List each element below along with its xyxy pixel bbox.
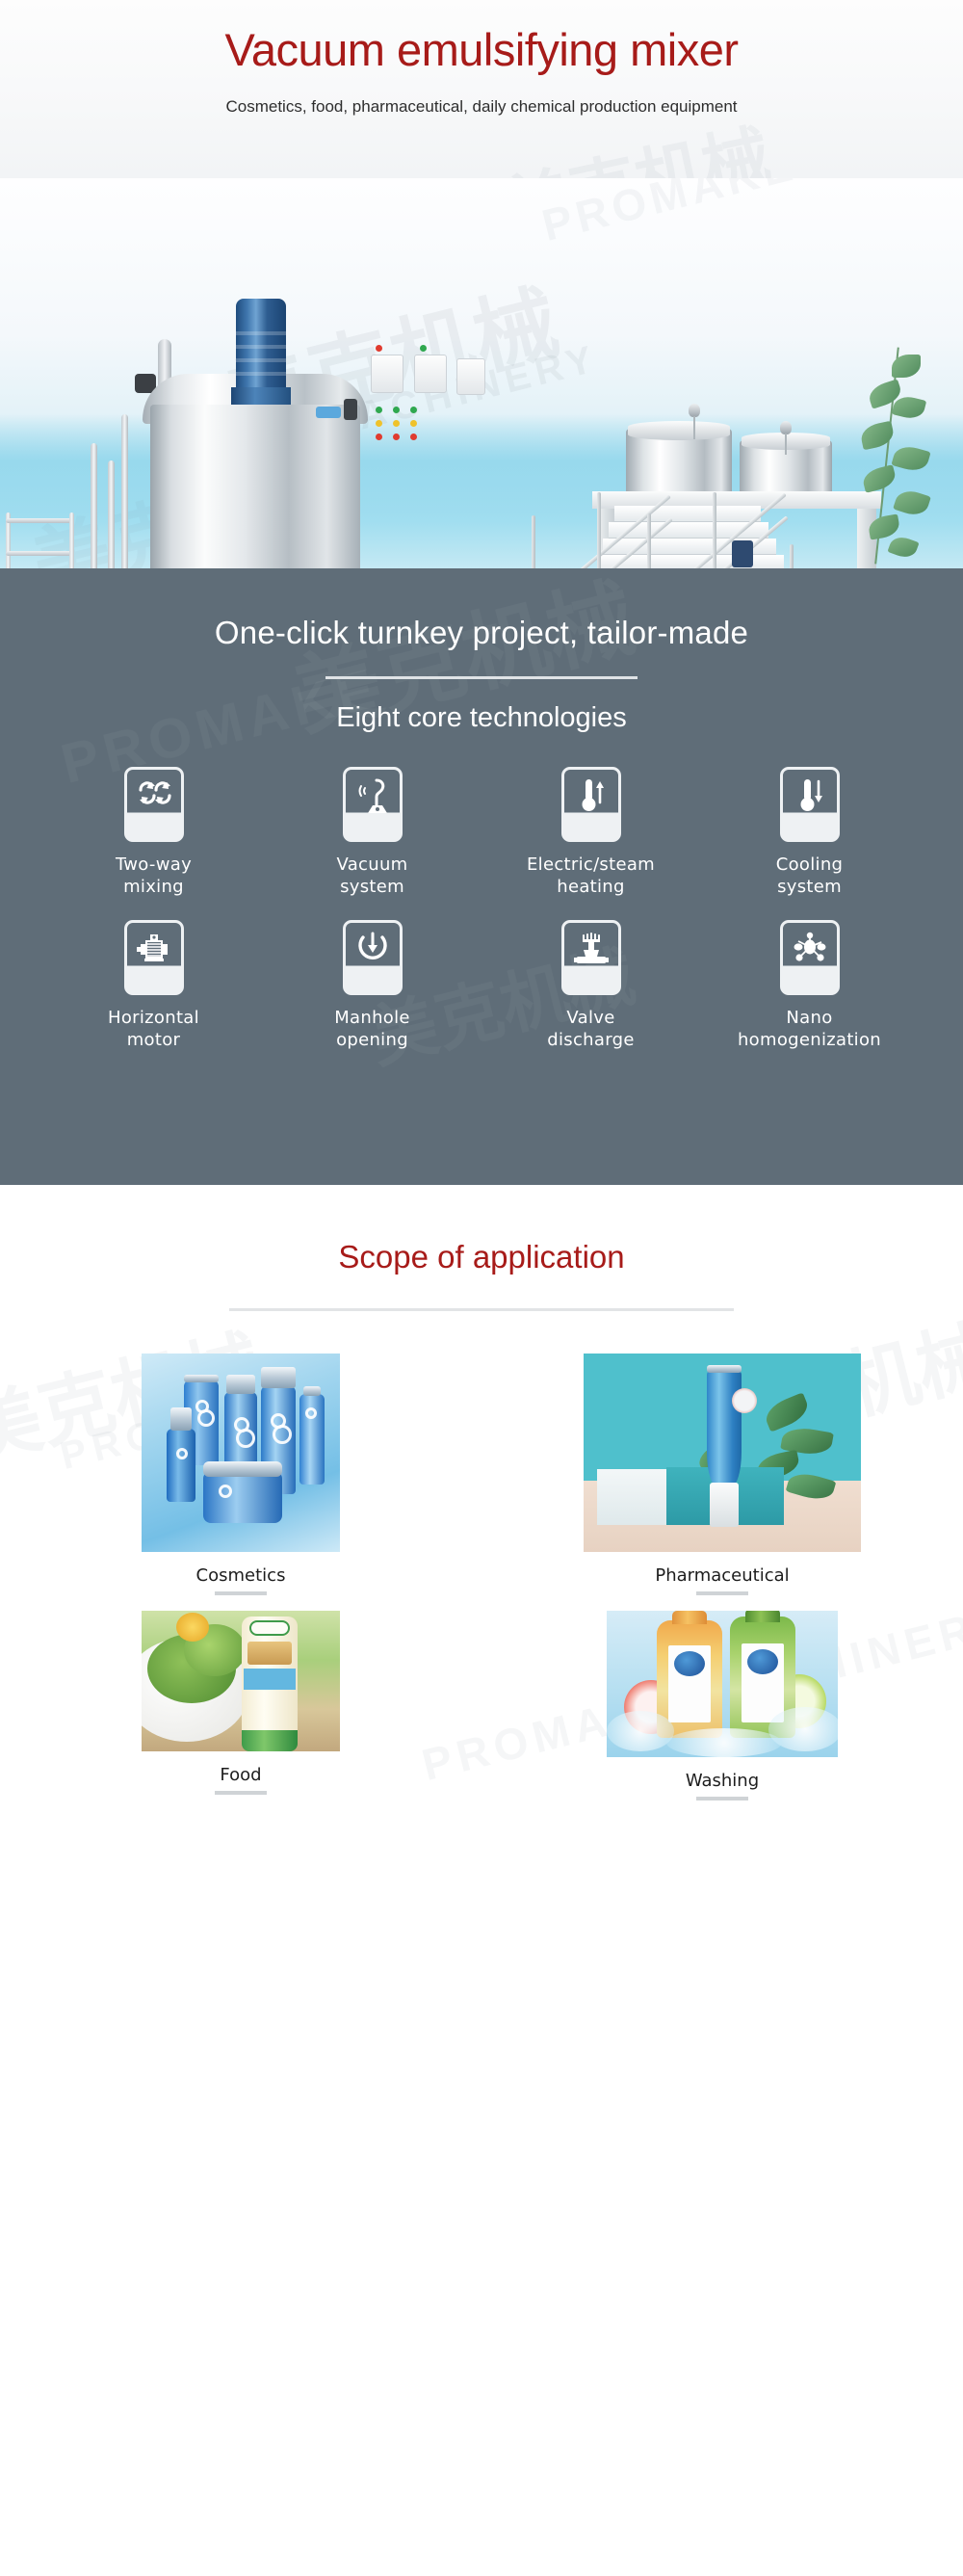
feature-item-valve-discharge[interactable]: Valve discharge	[481, 920, 700, 1052]
decorative-plant	[840, 347, 946, 568]
application-label: Washing	[686, 1771, 759, 1791]
core-technologies-section: 美克机械 PROMAKE 美克机械 One-click turnkey proj…	[0, 568, 963, 1185]
scope-divider	[229, 1308, 734, 1311]
hero-product-image: 美克机械 MACHINERY 美克机械 PROMAKE	[0, 178, 963, 568]
heating-thermometer-icon	[572, 776, 611, 815]
scope-title: Scope of application	[0, 1185, 963, 1275]
application-grid: Cosmetics	[0, 1354, 963, 1801]
feature-label: Vacuum system	[337, 854, 408, 899]
application-label: Pharmaceutical	[655, 1565, 789, 1586]
label-underline	[696, 1591, 748, 1595]
icon-card	[343, 767, 403, 842]
pressure-gauge	[689, 404, 700, 417]
label-band	[244, 1669, 296, 1690]
feature-item-electric-steam-heating[interactable]: Electric/steam heating	[481, 767, 700, 899]
pharmaceutical-thumbnail	[584, 1354, 861, 1552]
application-item-pharmaceutical[interactable]: Pharmaceutical	[481, 1354, 963, 1595]
application-label: Food	[220, 1765, 261, 1785]
icon-card	[780, 920, 840, 995]
mixer-machine-illustration	[58, 299, 501, 568]
control-panel-box	[456, 358, 485, 395]
cream-tube	[707, 1371, 742, 1486]
application-item-cosmetics[interactable]: Cosmetics	[0, 1354, 481, 1595]
label-underline	[696, 1797, 748, 1801]
soap-brand-mark	[747, 1649, 778, 1674]
feature-label: Two-way mixing	[116, 854, 192, 899]
icon-card	[561, 920, 621, 995]
control-panel-box	[414, 355, 447, 393]
manhole-opening-icon	[353, 930, 392, 968]
medicine-carton	[597, 1469, 666, 1525]
wall-device	[732, 540, 753, 567]
label-underline	[215, 1791, 267, 1795]
feature-item-manhole-opening[interactable]: Manhole opening	[263, 920, 481, 1052]
heading-divider	[325, 676, 638, 679]
feature-label: Horizontal motor	[108, 1007, 199, 1052]
brand-badge	[249, 1620, 290, 1636]
feature-label: Cooling system	[776, 854, 844, 899]
label-underline	[215, 1591, 267, 1595]
soap-brand-mark	[674, 1651, 705, 1676]
scope-of-application-section: 美克机械 PROMAKE 美克机械 PROMAKE MACHINERY Scop…	[0, 1185, 963, 1835]
feature-label: Manhole opening	[334, 1007, 410, 1052]
icon-card	[780, 767, 840, 842]
feature-item-horizontal-motor[interactable]: Horizontal motor	[44, 920, 263, 1052]
control-panel-box	[371, 355, 403, 393]
washing-thumbnail	[607, 1611, 838, 1757]
title-section: Vacuum emulsifying mixer Cosmetics, food…	[0, 0, 963, 178]
watermark-brand-pro: PROMAKE	[536, 178, 801, 251]
application-label: Cosmetics	[196, 1565, 286, 1586]
features-heading: One-click turnkey project, tailor-made	[0, 568, 963, 651]
features-subheading: Eight core technologies	[0, 702, 963, 734]
feature-item-nano-homogenization[interactable]: Nano homogenization	[700, 920, 919, 1052]
page-subtitle: Cosmetics, food, pharmaceutical, daily c…	[225, 97, 737, 117]
feature-label: Valve discharge	[547, 1007, 634, 1052]
icon-card	[343, 920, 403, 995]
horizontal-motor-icon	[134, 930, 174, 968]
feature-item-cooling-system[interactable]: Cooling system	[700, 767, 919, 899]
feature-label: Nano homogenization	[738, 1007, 881, 1052]
application-item-washing[interactable]: Washing	[481, 1611, 963, 1801]
features-grid: Two-way mixing	[0, 767, 963, 1052]
page-title: Vacuum emulsifying mixer	[224, 23, 738, 76]
access-ladder	[2, 513, 85, 568]
cosmetics-thumbnail	[142, 1354, 340, 1552]
food-thumbnail	[142, 1611, 340, 1751]
feature-label: Electric/steam heating	[527, 854, 655, 899]
application-item-food[interactable]: Food	[0, 1611, 481, 1801]
feature-item-vacuum-system[interactable]: Vacuum system	[263, 767, 481, 899]
nano-homogenization-icon	[790, 930, 830, 968]
mixing-tank	[150, 405, 360, 568]
vacuum-system-icon	[353, 776, 392, 815]
product-detail-page: Vacuum emulsifying mixer Cosmetics, food…	[0, 0, 963, 1835]
icon-card	[124, 920, 184, 995]
feature-item-two-way-mixing[interactable]: Two-way mixing	[44, 767, 263, 899]
cooling-thermometer-icon	[791, 776, 829, 815]
icon-card	[124, 767, 184, 842]
two-way-mixing-icon	[135, 776, 173, 815]
pressure-gauge	[780, 421, 792, 434]
valve-discharge-icon	[571, 930, 612, 968]
icon-card	[561, 767, 621, 842]
